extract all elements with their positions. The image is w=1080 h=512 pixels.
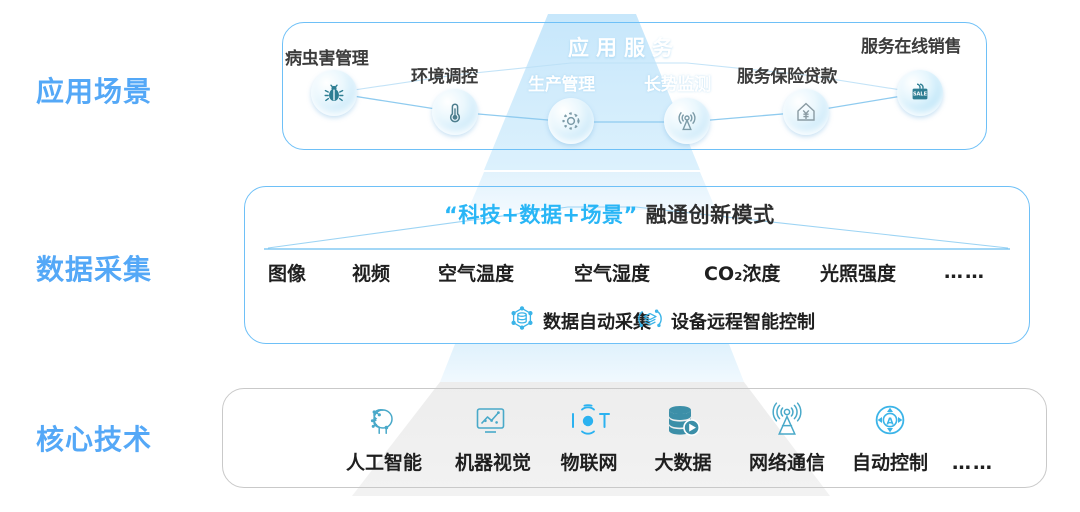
data-layer-title: “科技+数据+场景” 融通创新模式 — [444, 199, 775, 229]
row-label-application: 应用场景 — [36, 70, 152, 110]
iot-icon — [566, 396, 612, 442]
pyramid-title: 应用服务 — [568, 32, 680, 62]
data-title-part-6: ” — [624, 203, 638, 227]
tech-item-label-3: 大数据 — [654, 448, 711, 475]
signal-tower-icon[interactable] — [664, 98, 710, 144]
svg-text:A: A — [886, 416, 894, 427]
data-title-part-2: + — [501, 203, 519, 227]
sensor-item-0: 图像 — [268, 259, 306, 286]
tech-item-label-1: 机器视觉 — [455, 448, 531, 475]
app-item-label-3: 长势监测 — [644, 70, 711, 95]
machine-vision-icon — [472, 396, 514, 442]
tech-item-label-4: 网络通信 — [749, 448, 825, 475]
app-item-label-0: 病虫害管理 — [285, 44, 369, 69]
tech-item-label-5: 自动控制 — [852, 448, 928, 475]
sensor-more-dots: …… — [944, 261, 986, 283]
bug-icon[interactable] — [311, 70, 357, 116]
auto-control-icon-glyph: A — [869, 400, 911, 442]
database-network-icon — [508, 305, 536, 337]
signal-tower-icon-glyph — [675, 109, 699, 133]
house-yuan-icon-glyph — [794, 100, 818, 124]
bug-icon-glyph — [322, 81, 346, 105]
diagram-canvas: 应用场景 数据采集 核心技术 应用服务 病虫害管理 环境调控 — [0, 0, 1080, 512]
data-title-part-7: 融通创新模式 — [638, 203, 775, 227]
machine-vision-icon-glyph — [472, 400, 514, 442]
house-yuan-icon[interactable] — [783, 89, 829, 135]
data-title-part-3: 数据 — [519, 203, 562, 227]
ai-brain-icon — [363, 396, 405, 442]
capability-remote-control[interactable]: 设备远程智能控制 — [636, 305, 815, 337]
sensor-item-5: 光照强度 — [820, 259, 896, 286]
thermometer-icon-glyph — [444, 100, 466, 124]
data-title-part-4: + — [562, 203, 580, 227]
layers-network-icon-glyph — [636, 305, 664, 333]
sale-tag-icon[interactable]: SALE — [897, 70, 943, 116]
tech-item-bigdata[interactable]: 大数据 — [638, 396, 728, 475]
tech-item-label-2: 物联网 — [560, 448, 617, 475]
tech-item-network[interactable]: 网络通信 — [737, 396, 837, 475]
data-title-part-1: 科技 — [458, 203, 501, 227]
database-network-icon-glyph — [508, 305, 536, 333]
layers-network-icon — [636, 305, 664, 337]
app-item-label-5: 服务在线销售 — [861, 32, 961, 57]
row-label-tech: 核心技术 — [36, 418, 152, 458]
sensor-item-4: CO₂浓度 — [704, 259, 780, 286]
thermometer-icon[interactable] — [432, 89, 478, 135]
app-item-label-1: 环境调控 — [411, 62, 478, 87]
gear-icon[interactable] — [548, 98, 594, 144]
tech-item-ai[interactable]: 人工智能 — [334, 396, 434, 475]
tech-item-iot[interactable]: 物联网 — [544, 396, 634, 475]
row-label-data: 数据采集 — [36, 248, 152, 288]
big-data-icon — [661, 396, 705, 442]
iot-icon-glyph — [566, 400, 612, 442]
auto-control-icon: A — [869, 396, 911, 442]
capability-label-0: 数据自动采集 — [543, 308, 651, 334]
tech-more-dots: …… — [952, 452, 994, 474]
ai-brain-icon-glyph — [363, 400, 405, 442]
sensor-item-1: 视频 — [352, 259, 390, 286]
network-antenna-icon — [765, 396, 809, 442]
tech-item-vision[interactable]: 机器视觉 — [443, 396, 543, 475]
data-title-part-0: “ — [444, 203, 458, 227]
app-item-label-2: 生产管理 — [528, 70, 595, 95]
gear-icon-glyph — [559, 109, 583, 133]
capability-data-collection[interactable]: 数据自动采集 — [508, 305, 651, 337]
sensor-item-2: 空气温度 — [438, 259, 514, 286]
data-title-part-5: 场景 — [581, 203, 624, 227]
capability-label-1: 设备远程智能控制 — [671, 308, 815, 334]
sensor-item-3: 空气湿度 — [574, 259, 650, 286]
svg-text:SALE: SALE — [913, 92, 928, 98]
tech-item-autocontrol[interactable]: A 自动控制 — [840, 396, 940, 475]
sale-tag-icon-glyph: SALE — [908, 81, 932, 105]
app-item-label-4: 服务保险贷款 — [737, 62, 837, 87]
tech-item-label-0: 人工智能 — [346, 448, 422, 475]
network-antenna-icon-glyph — [765, 400, 809, 442]
big-data-icon-glyph — [661, 400, 705, 442]
